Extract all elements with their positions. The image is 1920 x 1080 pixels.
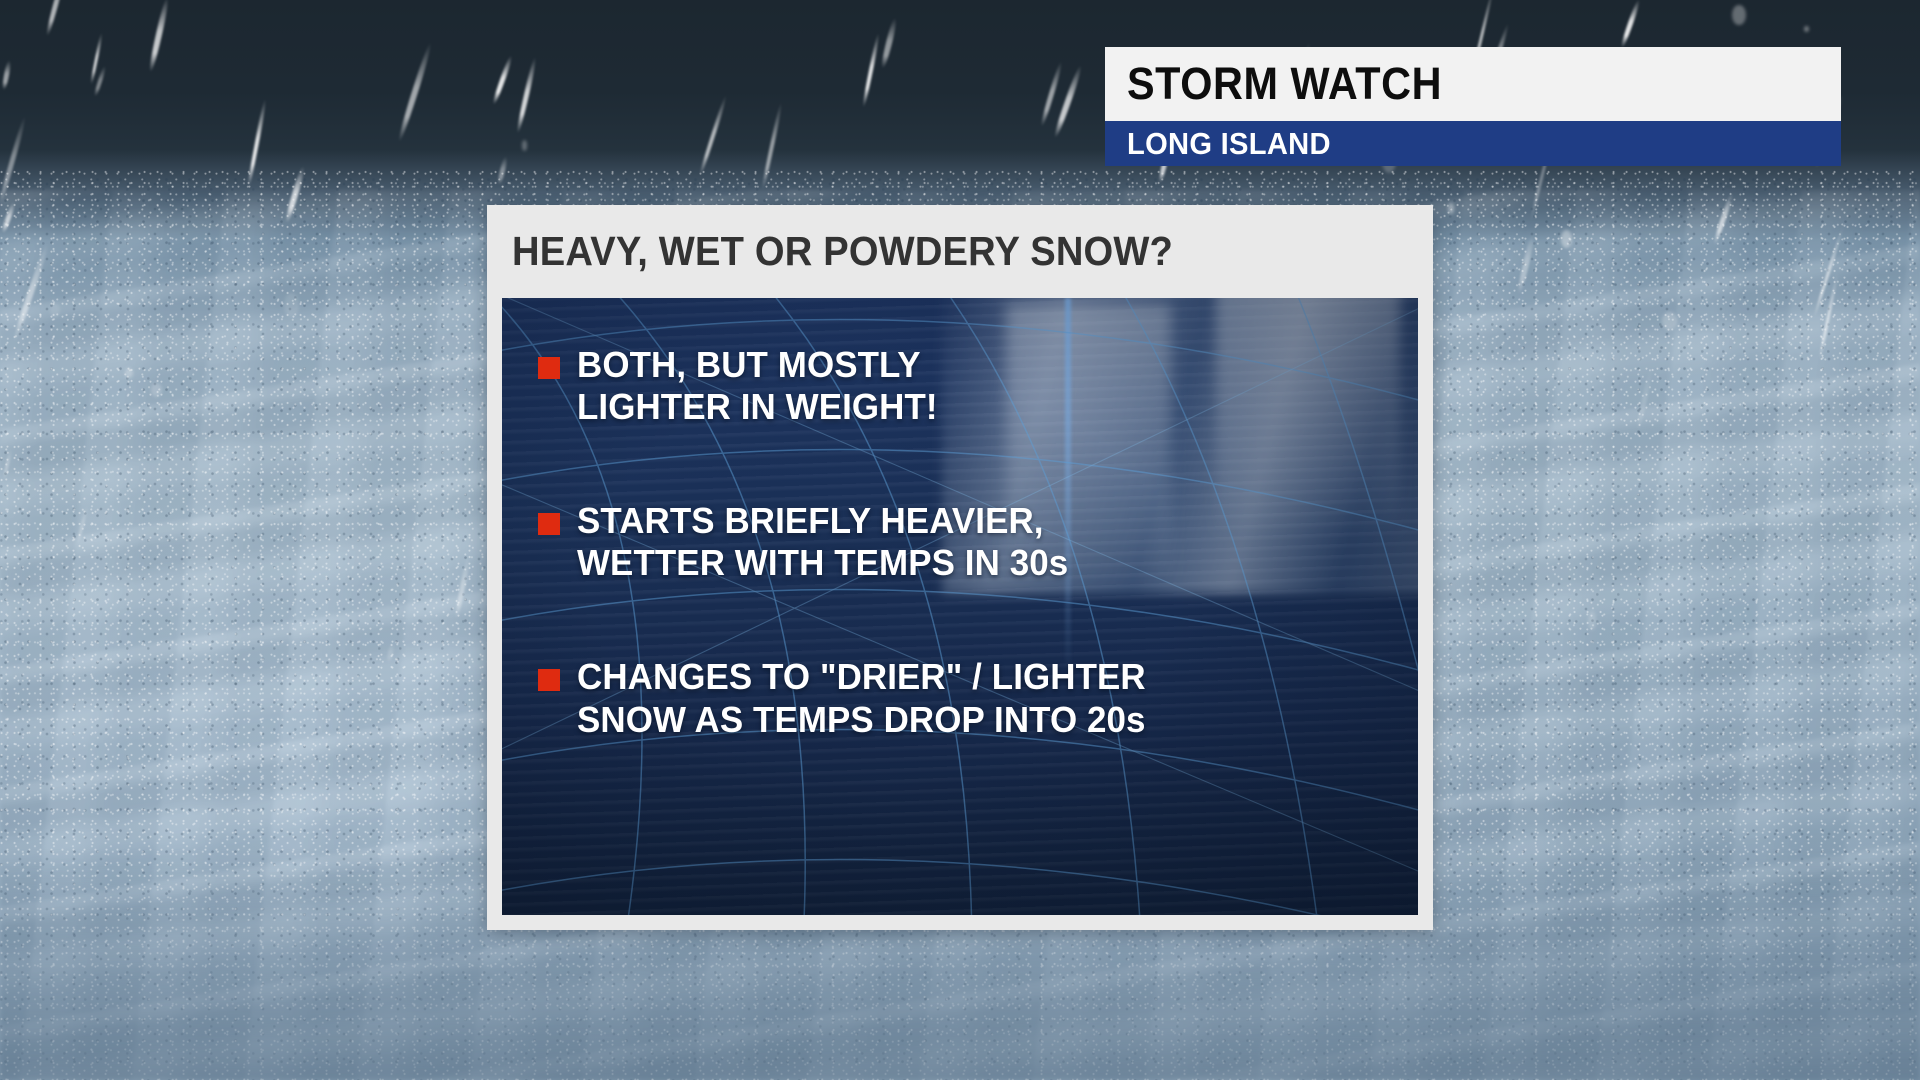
red-square-bullet-icon [538,669,560,691]
banner-title-bar: STORM WATCH [1105,47,1841,121]
storm-watch-banner: STORM WATCH LONG ISLAND [1105,47,1841,166]
red-square-bullet-icon [538,513,560,535]
list-item: CHANGES TO "DRIER" / LIGHTER SNOW AS TEM… [538,656,1418,740]
bullet-text-3: CHANGES TO "DRIER" / LIGHTER SNOW AS TEM… [577,656,1146,740]
bullet-list: BOTH, BUT MOSTLY LIGHTER IN WEIGHT! STAR… [502,298,1418,915]
banner-region-bar: LONG ISLAND [1105,121,1841,166]
red-square-bullet-icon [538,357,560,379]
banner-title: STORM WATCH [1127,58,1442,110]
panel-heading-bar: HEAVY, WET OR POWDERY SNOW? [487,205,1433,298]
bullet-text-2: STARTS BRIEFLY HEAVIER, WETTER WITH TEMP… [577,500,1068,584]
info-panel: HEAVY, WET OR POWDERY SNOW? [487,205,1433,930]
list-item: STARTS BRIEFLY HEAVIER, WETTER WITH TEMP… [538,500,1418,584]
bullet-text-1: BOTH, BUT MOSTLY LIGHTER IN WEIGHT! [577,344,938,428]
broadcast-graphic-stage: STORM WATCH LONG ISLAND HEAVY, WET OR PO… [0,0,1920,1080]
page-title: HEAVY, WET OR POWDERY SNOW? [512,228,1173,275]
banner-region: LONG ISLAND [1127,126,1331,162]
panel-board: BOTH, BUT MOSTLY LIGHTER IN WEIGHT! STAR… [502,298,1418,915]
list-item: BOTH, BUT MOSTLY LIGHTER IN WEIGHT! [538,344,1418,428]
